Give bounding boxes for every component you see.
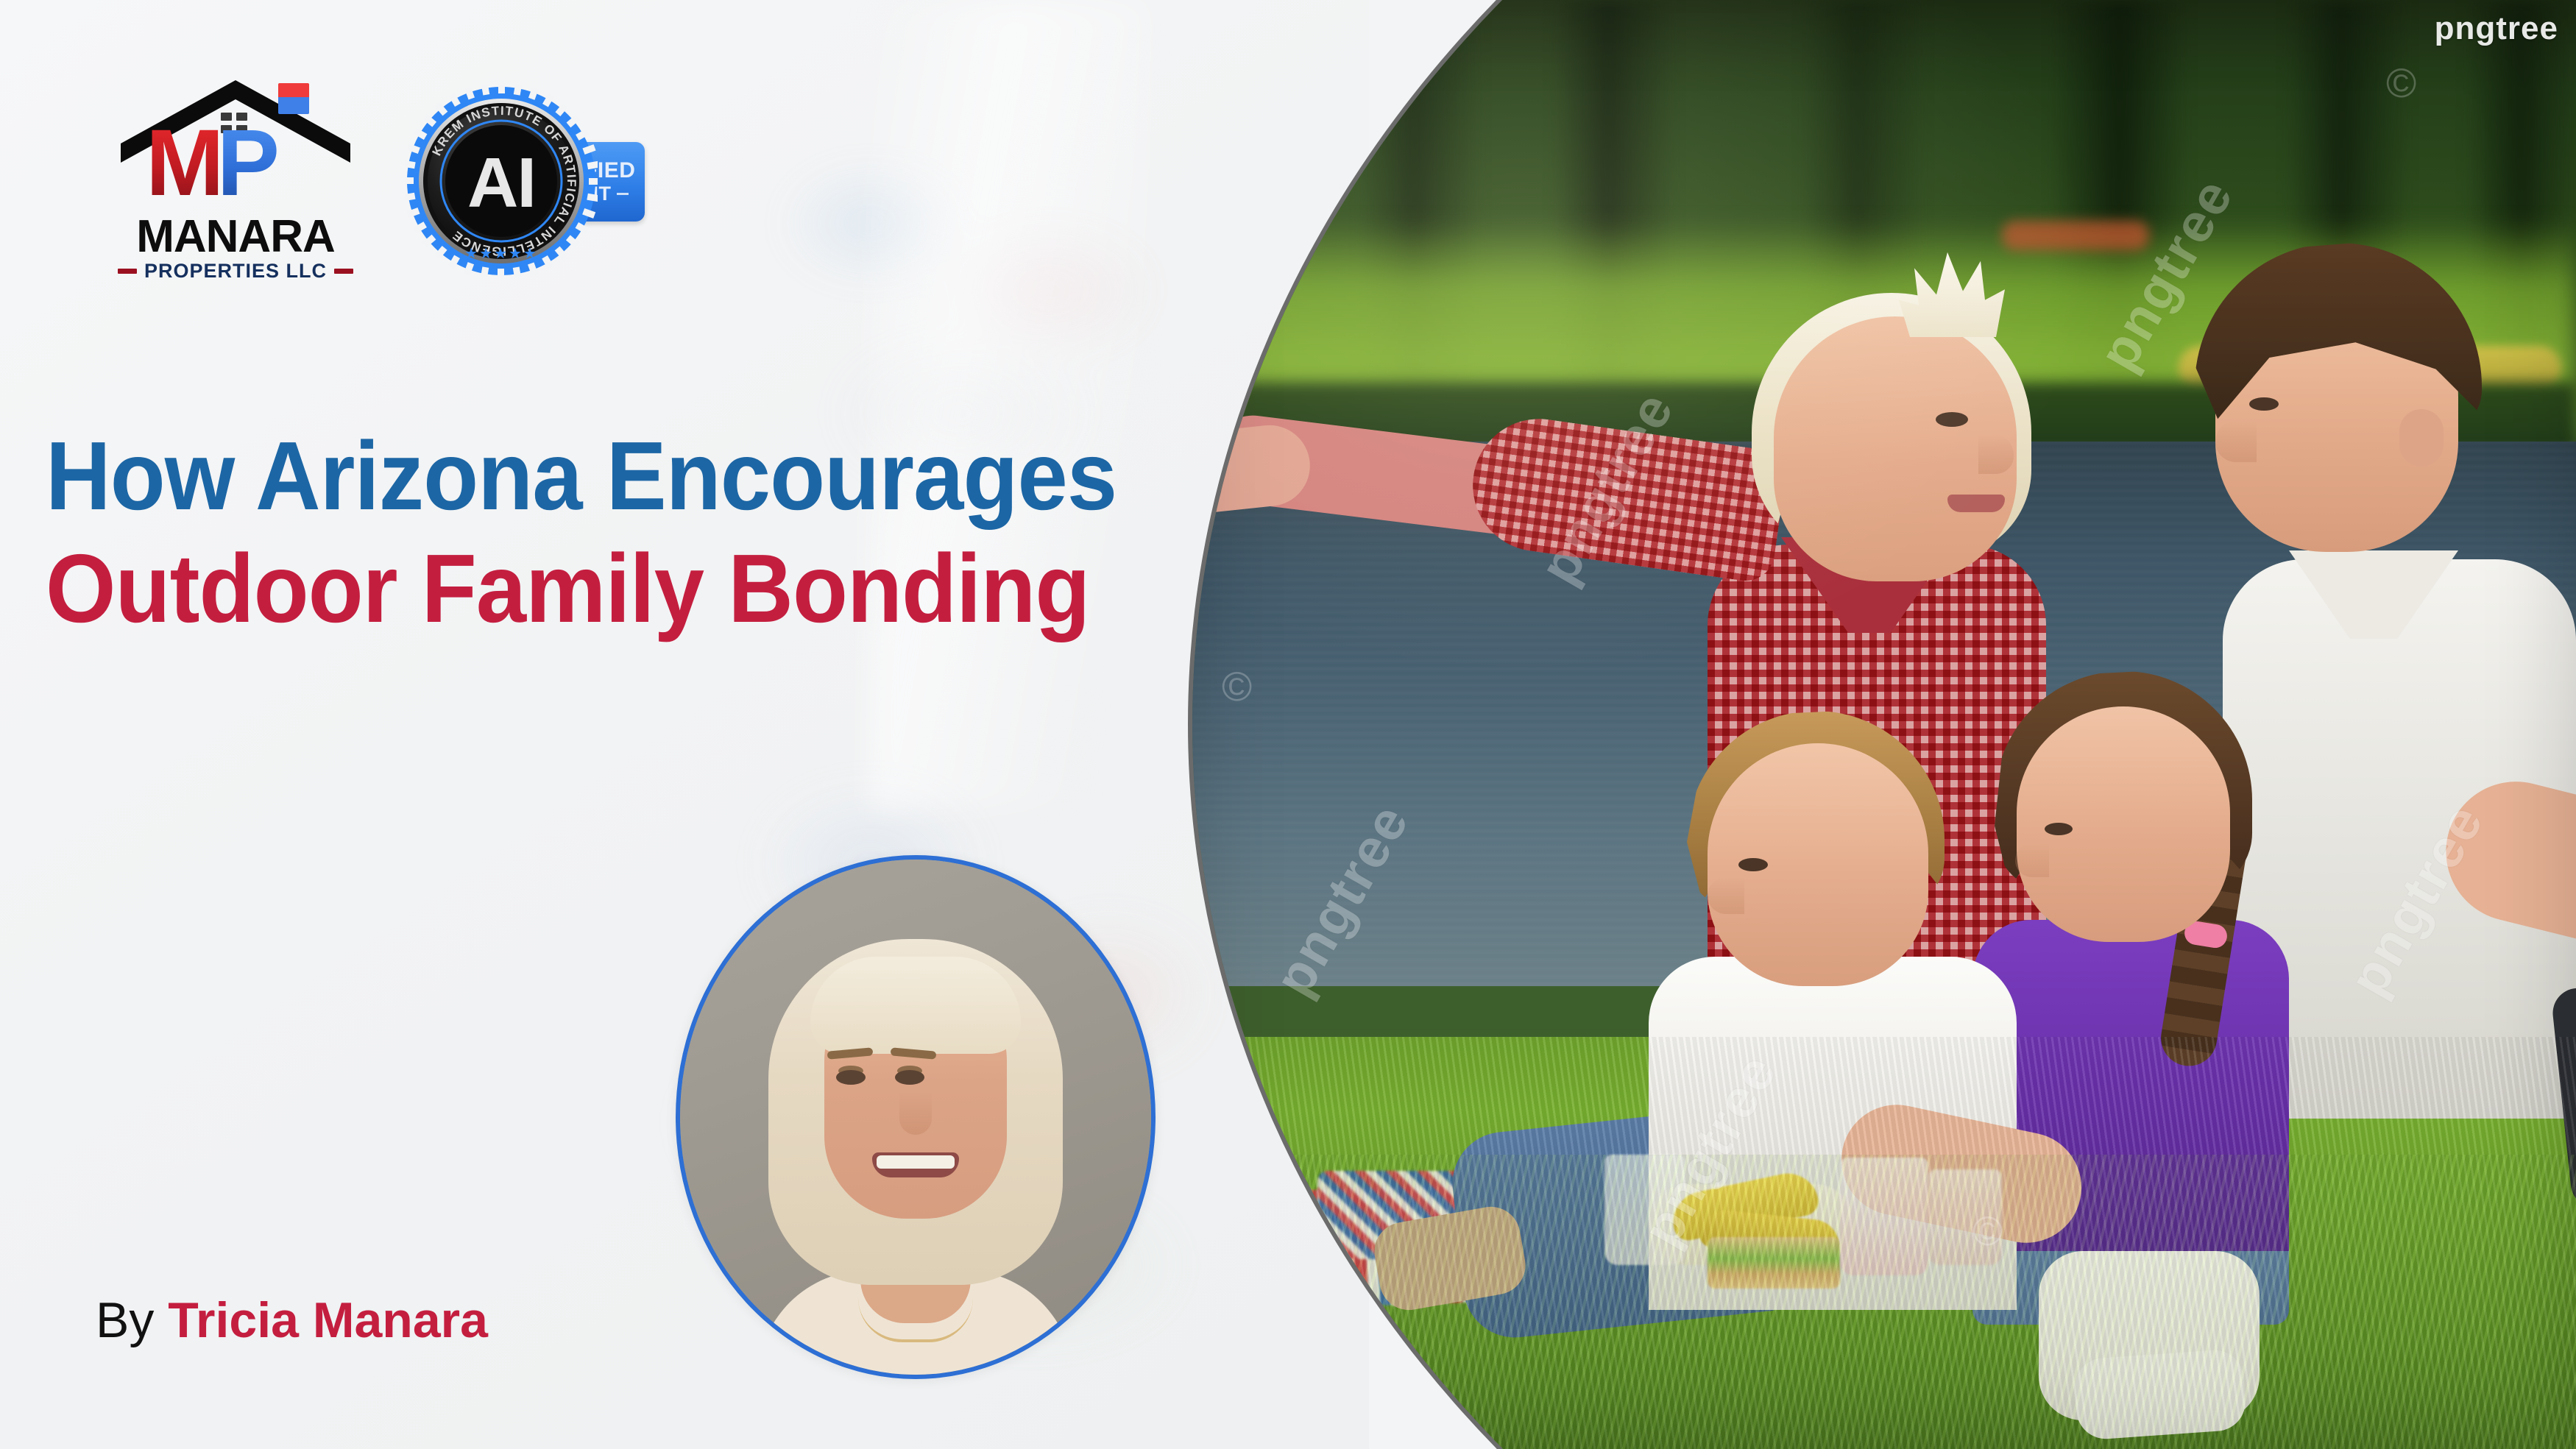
- ai-certified-agent-badge[interactable]: CERTIFIED AGENT: [405, 85, 648, 283]
- mother-hair-tuft: [1899, 249, 2009, 337]
- dash-right-icon: [334, 269, 353, 274]
- monogram-letter-m: M: [146, 121, 222, 205]
- avatar-eye-left: [836, 1070, 866, 1085]
- mother-sleeve: [1465, 411, 1789, 585]
- avatar-fringe: [810, 957, 1021, 1054]
- logo-subtitle: PROPERTIES LLC: [144, 260, 327, 283]
- chimney-icon: [278, 83, 309, 114]
- logo-subtitle-row: PROPERTIES LLC: [110, 260, 361, 283]
- mother-mouth: [1947, 495, 2005, 512]
- byline-prefix: By: [96, 1292, 154, 1348]
- father-nose: [2215, 421, 2257, 462]
- ribbon-dash-right-icon: [617, 193, 629, 195]
- girl-nose: [2015, 843, 2049, 877]
- father-ear: [2399, 409, 2444, 467]
- left-content-panel: M P MANARA PROPERTIES LLC CERTIFIED AGEN…: [0, 0, 1369, 1449]
- avatar-teeth: [877, 1155, 955, 1169]
- boy-eye: [1738, 858, 1768, 871]
- girl-eye: [2045, 823, 2073, 835]
- author-avatar[interactable]: [676, 855, 1156, 1379]
- photo-scene: pngtree pngtree pngtree pngtree pngtree …: [1192, 0, 2576, 1449]
- boy-nose: [1708, 877, 1744, 914]
- monogram-mp: M P: [146, 124, 330, 205]
- father-eye: [2249, 397, 2279, 411]
- manara-properties-logo[interactable]: M P MANARA PROPERTIES LLC: [110, 70, 361, 298]
- avatar-mouth: [872, 1152, 959, 1177]
- article-headline: How Arizona Encourages Outdoor Family Bo…: [46, 419, 1238, 645]
- grass-texture-b: [1192, 1155, 2576, 1449]
- avatar-eye-right: [895, 1070, 924, 1085]
- logo-company-name: MANARA: [110, 214, 361, 260]
- ghost-light-streak: [868, 0, 1148, 809]
- monogram-letter-p: P: [217, 121, 277, 205]
- byline-author-name: Tricia Manara: [168, 1292, 488, 1348]
- hero-photo: pngtree pngtree pngtree pngtree pngtree …: [1192, 0, 2576, 1449]
- headline-line-1: How Arizona Encourages: [46, 419, 1155, 532]
- avatar-nose: [899, 1092, 932, 1135]
- svg-text:AI: AI: [467, 144, 535, 222]
- headline-line-2: Outdoor Family Bonding: [46, 532, 1155, 645]
- ai-seal-icon: AI: [405, 85, 598, 277]
- dash-left-icon: [118, 269, 137, 274]
- watermark-brand-corner: pngtree: [2435, 10, 2558, 47]
- byline: By Tricia Manara: [96, 1295, 488, 1345]
- brand-header: M P MANARA PROPERTIES LLC CERTIFIED AGEN…: [110, 70, 648, 298]
- blog-banner: M P MANARA PROPERTIES LLC CERTIFIED AGEN…: [0, 0, 2576, 1449]
- mother-eye: [1936, 412, 1968, 427]
